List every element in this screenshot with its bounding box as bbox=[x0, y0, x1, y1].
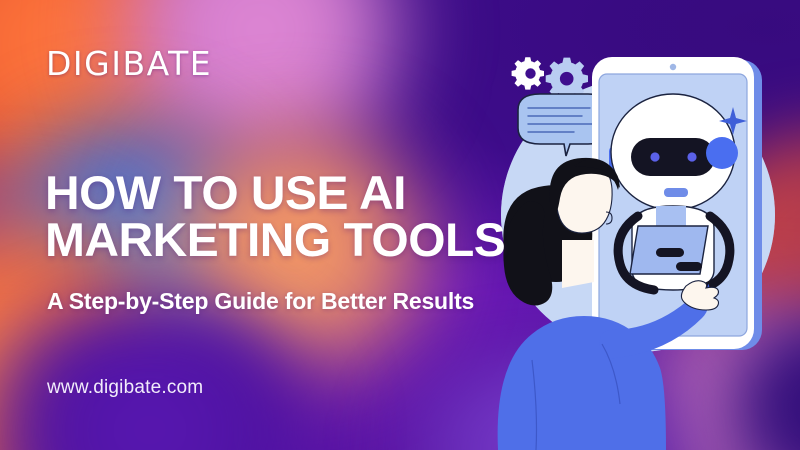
page-title: HOW TO USE AI MARKETING TOOLS bbox=[45, 170, 505, 263]
promo-banner: DIGIBATE HOW TO USE AI MARKETING TOOLS A… bbox=[0, 0, 800, 450]
robot-right-headphone bbox=[706, 137, 738, 169]
page-title-line-2: MARKETING TOOLS bbox=[45, 217, 505, 264]
ai-chatbot-illustration bbox=[470, 0, 800, 450]
page-title-line-1: HOW TO USE AI bbox=[45, 170, 505, 217]
robot-hand-left bbox=[656, 248, 684, 257]
gear-small-icon bbox=[512, 57, 544, 89]
page-subtitle: A Step-by-Step Guide for Better Results bbox=[47, 288, 474, 315]
brand-logo-text: DIGIBATE bbox=[46, 44, 212, 83]
website-url[interactable]: www.digibate.com bbox=[47, 377, 203, 399]
brand-logo: DIGIBATE bbox=[46, 44, 212, 83]
robot-mouth bbox=[664, 188, 688, 197]
robot-hand-right bbox=[676, 262, 702, 271]
phone-camera-dot bbox=[670, 64, 676, 70]
woman-neck bbox=[562, 240, 594, 288]
robot-eye-right bbox=[687, 152, 696, 161]
robot-visor bbox=[631, 138, 715, 176]
robot-eye-left bbox=[650, 152, 659, 161]
